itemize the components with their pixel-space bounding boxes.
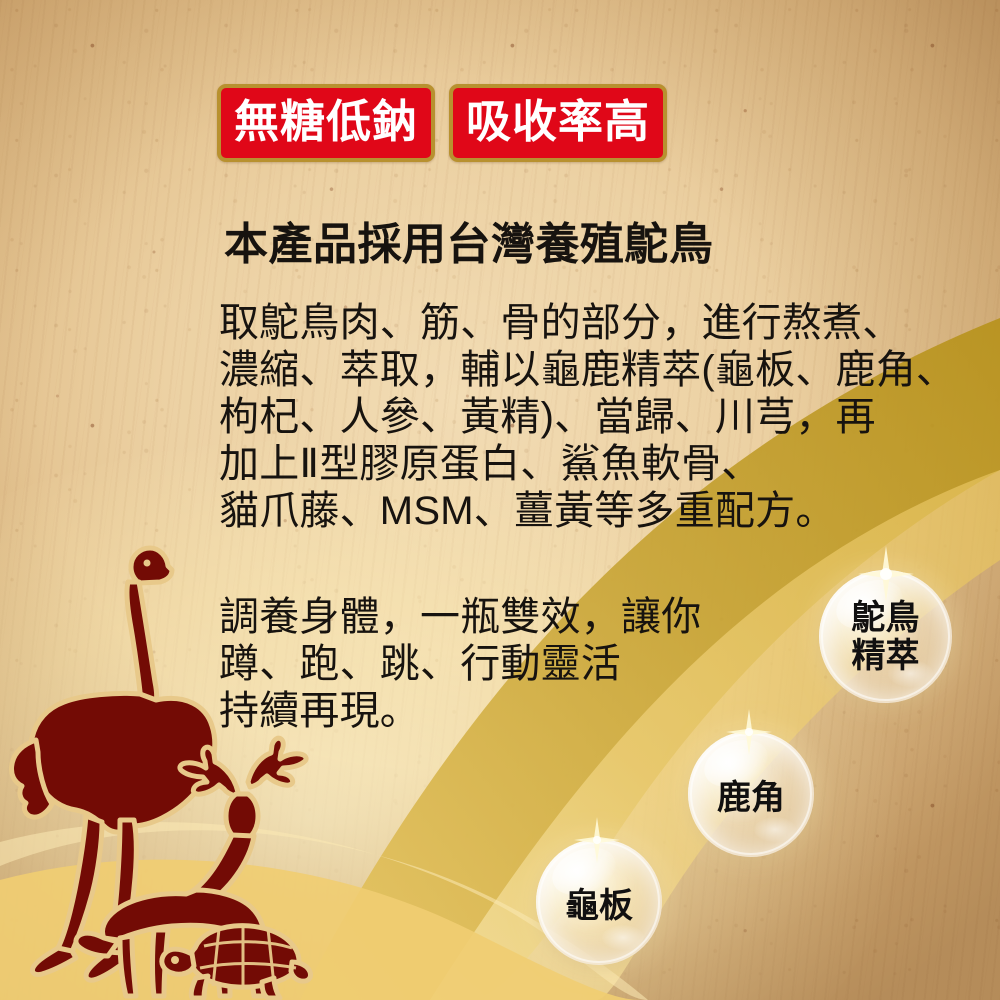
ostrich-silhouette [32, 948, 76, 975]
promo-banner: 無糖低鈉 吸收率高 本產品採用台灣養殖鴕鳥 取鴕鳥肉、筋、骨的部分，進行熬煮、 … [0, 0, 1000, 1000]
feature-badge-row: 無糖低鈉 吸收率高 [217, 84, 667, 162]
bubble-ostrich-essence: 鴕鳥 精萃 [819, 570, 952, 703]
page-title: 本產品採用台灣養殖鴕鳥 [224, 208, 714, 272]
deer-silhouette [226, 794, 258, 839]
bubble-lower-highlight [602, 925, 645, 950]
ostrich-eye [144, 560, 151, 567]
bubble-label-line: 鹿角 [717, 770, 785, 819]
bubble-label: 鹿角 [717, 770, 785, 819]
bubble-turtle-plastron: 龜板 [536, 839, 662, 965]
badge-sugar-free-low-sodium[interactable]: 無糖低鈉 [217, 84, 435, 162]
turtle-silhouette [191, 976, 208, 998]
ostrich-silhouette [127, 582, 157, 702]
bubble-label-line: 鴕鳥 [852, 599, 920, 637]
bubble-label-line: 精萃 [852, 637, 920, 675]
deer-silhouette [120, 936, 136, 996]
description-line: 濃縮、萃取，輔以龜鹿精萃(龜板、鹿角、 [219, 347, 956, 394]
animal-silhouette-group [0, 530, 320, 1000]
ingredient-description: 取鴕鳥肉、筋、骨的部分，進行熬煮、 濃縮、萃取，輔以龜鹿精萃(龜板、鹿角、 枸杞… [219, 300, 956, 535]
bubble-label: 鴕鳥 精萃 [852, 599, 920, 675]
ostrich-silhouette [58, 816, 102, 952]
bubble-label-line: 龜板 [565, 878, 633, 927]
description-line: 取鴕鳥肉、筋、骨的部分，進行熬煮、 [219, 300, 956, 347]
description-line: 加上Ⅱ型膠原蛋白、鯊魚軟骨、 [219, 441, 956, 488]
bubble-label: 龜板 [565, 878, 633, 927]
turtle-silhouette [291, 962, 311, 981]
deer-silhouette [248, 738, 306, 787]
description-line: 貓爪藤、MSM、薑黃等多重配方。 [219, 488, 956, 535]
badge-high-absorption[interactable]: 吸收率高 [449, 84, 667, 162]
bubble-deer-antler: 鹿角 [688, 731, 814, 857]
turtle-eye [171, 956, 179, 964]
ostrich-silhouette [131, 548, 172, 583]
bubble-lower-highlight [754, 817, 797, 842]
description-line: 枸杞、人參、黃精)、當歸、川芎，再 [219, 394, 956, 441]
